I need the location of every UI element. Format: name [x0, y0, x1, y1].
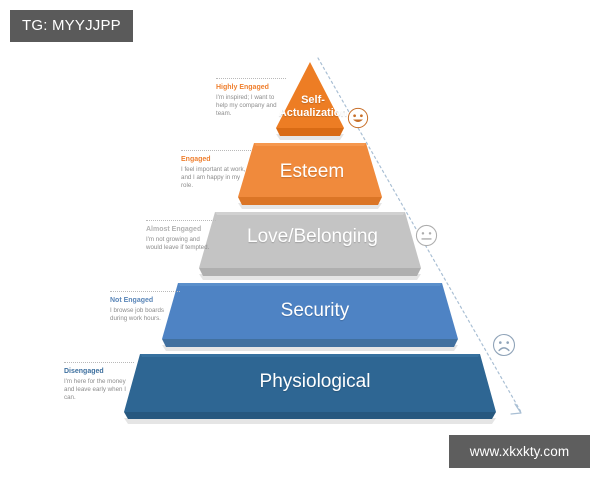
tier-top-physiological [140, 354, 480, 357]
annotation-disengaged: Disengaged I'm here for the money and le… [64, 362, 134, 403]
annotation-not-engaged-body: I browse job boards during work hours. [110, 307, 180, 323]
tier-side-physiological [124, 412, 496, 419]
tier-top-love [215, 212, 405, 215]
tier-face-love[interactable] [199, 212, 421, 268]
pyramid-diagram-canvas: TG: MYYJJPP Self- Actualization [0, 0, 600, 480]
tier-face-self-actualization[interactable] [276, 62, 344, 128]
annotation-engaged-body: I feel important at work, and I am happy… [181, 166, 251, 191]
annotation-disengaged-body: I'm here for the money and leave early w… [64, 378, 134, 403]
tier-face-security[interactable] [162, 283, 458, 339]
annotation-highly-engaged-body: I'm inspired; I want to help my company … [216, 94, 286, 119]
annotation-not-engaged: Not Engaged I browse job boards during w… [110, 291, 180, 323]
tier-face-physiological[interactable] [124, 354, 496, 412]
annotation-almost-engaged-body: I'm not growing and would leave if tempt… [146, 236, 216, 252]
tier-face-esteem[interactable] [238, 143, 382, 197]
tier-side-esteem [238, 197, 382, 205]
annotation-almost-engaged-title: Almost Engaged [146, 225, 216, 234]
watermark: www.xkxkty.com [449, 435, 590, 468]
neutral-face-icon [415, 224, 438, 247]
annotation-not-engaged-title: Not Engaged [110, 296, 180, 305]
tier-side-love [199, 268, 421, 276]
annotation-highly-engaged-title: Highly Engaged [216, 83, 286, 92]
tier-top-security [178, 283, 442, 286]
tg-badge: TG: MYYJJPP [10, 10, 133, 42]
tier-side-security [162, 339, 458, 347]
pyramid-graphic [0, 0, 600, 480]
sad-face-icon [492, 333, 516, 357]
happy-face-icon [347, 107, 369, 129]
annotation-disengaged-title: Disengaged [64, 367, 134, 376]
annotation-almost-engaged: Almost Engaged I'm not growing and would… [146, 220, 216, 252]
annotation-highly-engaged: Highly Engaged I'm inspired; I want to h… [216, 78, 286, 119]
tier-top-esteem [254, 143, 366, 146]
annotation-engaged: Engaged I feel important at work, and I … [181, 150, 251, 191]
annotation-engaged-title: Engaged [181, 155, 251, 164]
tier-side-self-actualization [276, 128, 344, 136]
